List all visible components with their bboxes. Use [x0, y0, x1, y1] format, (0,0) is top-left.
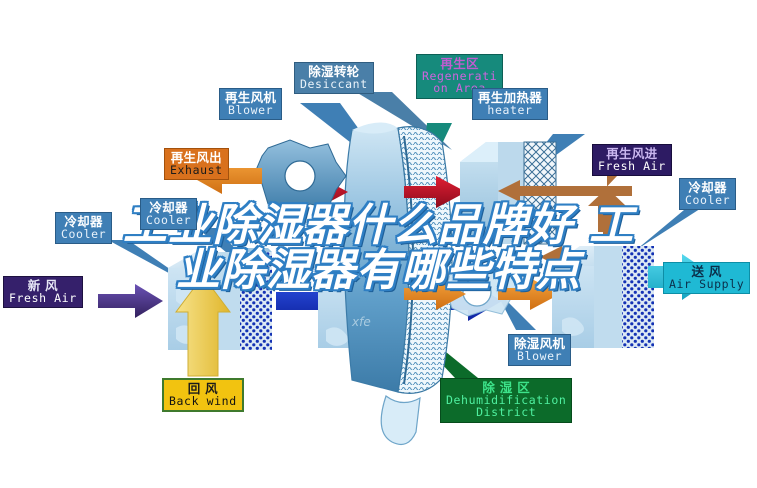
cooler-unit-right — [552, 246, 654, 348]
label-desiccant-cn: 除湿转轮 — [300, 65, 368, 78]
label-fresh-air-en: Fresh Air — [9, 292, 77, 304]
headline-line-1: 工业除湿器什么品牌好 工 — [123, 200, 634, 251]
label-exhaust-cn: 再生风出 — [170, 151, 223, 164]
label-regen-fresh-air[interactable]: 再生风进 Fresh Air — [592, 144, 672, 176]
label-dehum-blower[interactable]: 除湿风机 Blower — [508, 334, 571, 366]
label-air-supply[interactable]: 送 风 Air Supply — [663, 262, 750, 294]
label-fresh-air[interactable]: 新 风 Fresh Air — [3, 276, 83, 308]
label-cooler-mid-cn: 冷却器 — [146, 201, 191, 214]
headline-overlay: 工业除湿器什么品牌好 工 业除湿器有哪些特点 — [0, 203, 757, 293]
callout-leaders — [108, 92, 706, 378]
label-exhaust[interactable]: 再生风出 Exhaust — [164, 148, 229, 180]
label-dehum-blower-cn: 除湿风机 — [514, 337, 565, 350]
label-exhaust-en: Exhaust — [170, 164, 223, 176]
blue-arrow-2 — [422, 281, 502, 321]
label-regeneration-area-cn: 再生区 — [422, 57, 497, 70]
label-cooler-right-en: Cooler — [685, 194, 730, 206]
label-back-wind-cn: 回 风 — [169, 382, 237, 395]
label-air-supply-en: Air Supply — [669, 278, 744, 290]
fresh-air-arrow — [98, 284, 163, 318]
regen-red-arrows — [296, 176, 466, 208]
regen-heater — [460, 142, 556, 244]
label-cooler-mid[interactable]: 冷却器 Cooler — [140, 198, 197, 230]
cooler-unit-left — [168, 248, 272, 350]
label-desiccant[interactable]: 除湿转轮 Desiccant — [294, 62, 374, 94]
diagram-artwork: xfe — [0, 0, 757, 488]
label-regen-fresh-air-cn: 再生风进 — [598, 147, 666, 160]
desiccant-rotor: xfe — [344, 122, 452, 444]
label-dehumidification-district[interactable]: 除 湿 区 Dehumidification District — [440, 378, 572, 423]
dehum-orange-arrows — [404, 278, 560, 310]
headline-line-2: 业除湿器有哪些特点 — [0, 248, 757, 293]
label-back-wind[interactable]: 回 风 Back wind — [162, 378, 244, 412]
dehum-blower-fan — [446, 260, 520, 316]
label-cooler-left-cn: 冷却器 — [61, 215, 106, 228]
label-regen-blower-cn: 再生风机 — [225, 91, 276, 104]
back-wind-arrow — [176, 276, 230, 376]
label-cooler-left[interactable]: 冷却器 Cooler — [55, 212, 112, 244]
label-fresh-air-cn: 新 风 — [9, 279, 77, 292]
label-cooler-mid-en: Cooler — [146, 214, 191, 226]
label-regen-blower[interactable]: 再生风机 Blower — [219, 88, 282, 120]
label-dehum-blower-en: Blower — [514, 350, 565, 362]
label-regen-heater[interactable]: 再生加热器 heater — [472, 88, 548, 120]
label-regen-heater-cn: 再生加热器 — [478, 91, 542, 104]
label-regen-fresh-air-en: Fresh Air — [598, 160, 666, 172]
regen-blower-fan — [256, 140, 346, 212]
label-dehum-district-cn: 除 湿 区 — [446, 381, 566, 394]
label-cooler-left-en: Cooler — [61, 228, 106, 240]
label-desiccant-en: Desiccant — [300, 78, 368, 90]
label-air-supply-cn: 送 风 — [669, 265, 744, 278]
svg-text:xfe: xfe — [351, 315, 371, 329]
label-cooler-right[interactable]: 冷却器 Cooler — [679, 178, 736, 210]
label-cooler-right-cn: 冷却器 — [685, 181, 730, 194]
regen-intake-pipe — [498, 176, 632, 282]
label-back-wind-en: Back wind — [169, 395, 237, 407]
cooler-unit-mid — [318, 252, 418, 348]
label-regen-heater-en: heater — [478, 104, 542, 116]
label-regen-blower-en: Blower — [225, 104, 276, 116]
dehumidifier-diagram: xfe — [0, 0, 757, 488]
blue-arrow-1 — [276, 281, 356, 321]
label-dehum-district-en2: District — [446, 406, 566, 418]
